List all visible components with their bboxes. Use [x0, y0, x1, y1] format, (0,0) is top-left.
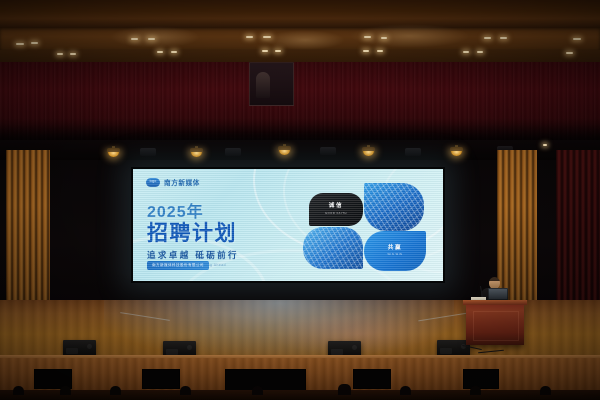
- ceiling-downlight: [16, 43, 24, 45]
- ceiling-downlight: [463, 51, 469, 53]
- led-screen-content: logo 南方新媒体 2025年 招聘计划 追求卓越 砥砺前行 Pursuing…: [133, 169, 443, 281]
- ceiling-downlight: [31, 42, 38, 44]
- ceiling-downlight: [484, 37, 491, 39]
- stage-light-icon: [140, 148, 156, 156]
- petal-glass-top-right: [364, 183, 424, 231]
- seat-back: [13, 386, 24, 395]
- ceiling-downlight: [262, 50, 268, 52]
- petal-value-integrity: 诚信 GOOD FAITH: [309, 193, 363, 226]
- ceiling-downlight: [57, 53, 63, 55]
- petal-value-winwin: 共赢 WIN WIN: [364, 231, 426, 271]
- ceiling-downlight: [377, 50, 383, 52]
- led-screen-frame: logo 南方新媒体 2025年 招聘计划 追求卓越 砥砺前行 Pursuing…: [131, 167, 445, 283]
- seat-back: [540, 386, 551, 395]
- ceiling-downlight: [157, 51, 163, 53]
- stage-light-icon: [320, 147, 336, 155]
- stage-light-icon: [105, 146, 122, 158]
- slide-main-title: 招聘计划: [147, 223, 239, 246]
- ceiling-downlight: [363, 50, 369, 52]
- ceiling-downlight: [477, 51, 483, 53]
- audience-seat-row: [0, 390, 600, 400]
- ceiling-downlight: [381, 37, 387, 39]
- slide-logo: logo 南方新媒体: [146, 177, 200, 187]
- ceiling-downlight: [263, 36, 271, 38]
- brand-mark-icon: logo: [146, 178, 160, 187]
- stage-light-icon: [225, 148, 241, 156]
- ceiling-downlight: [275, 50, 281, 52]
- slide-headline: 2025年 招聘计划 追求卓越 砥砺前行 Pursuing Excellence…: [147, 205, 239, 267]
- petal-label-en: WIN WIN: [387, 253, 402, 256]
- ceiling-downlight: [566, 52, 573, 54]
- ceiling-beam: [0, 28, 600, 50]
- petal-glass-bottom-left: [303, 227, 363, 269]
- ceiling-downlight: [500, 37, 507, 39]
- apron-vent-opening: [142, 369, 180, 389]
- brand-mark-text: logo: [150, 180, 157, 183]
- stage-light-icon: [188, 146, 205, 158]
- seat-back: [400, 386, 411, 395]
- petal-label-cn: 诚信: [329, 204, 343, 210]
- ceiling-downlight: [70, 53, 76, 55]
- slide-company-chip: 南方新媒体科技股份有限公司: [147, 261, 209, 270]
- seat-back: [252, 386, 263, 395]
- auditorium-stage-photo: logo 南方新媒体 2025年 招聘计划 追求卓越 砥砺前行 Pursuing…: [0, 0, 600, 400]
- apron-vent-opening: [353, 369, 391, 389]
- brand-name: 南方新媒体: [164, 177, 200, 187]
- petal-label-cn: 共赢: [388, 246, 402, 252]
- ceiling-downlight: [364, 36, 371, 38]
- slide-subtitle-cn: 追求卓越 砥砺前行: [147, 249, 239, 261]
- ceiling-downlight: [148, 38, 155, 40]
- seat-back: [180, 386, 191, 395]
- seat-back: [110, 386, 121, 395]
- ceiling-downlight: [171, 51, 177, 53]
- laptop-screen: [489, 289, 507, 299]
- stage-light-icon: [543, 144, 547, 146]
- podium-top-surface: [463, 300, 527, 305]
- audience-head: [338, 384, 351, 395]
- stage-light-icon: [405, 148, 421, 156]
- projector-lens-icon: [256, 72, 270, 98]
- ceiling-downlight: [246, 36, 253, 38]
- apron-vent-opening: [463, 369, 499, 389]
- seat-back: [60, 386, 71, 395]
- ceiling: [0, 0, 600, 30]
- ceiling-downlight: [131, 38, 138, 40]
- slide-year: 2025年: [147, 205, 239, 221]
- stage-light-icon: [448, 145, 465, 157]
- stage-light-icon: [276, 144, 293, 156]
- petal-label-en: GOOD FAITH: [325, 212, 347, 215]
- stage-light-icon: [360, 145, 377, 157]
- ceiling-downlight: [573, 38, 581, 40]
- podium-front-panel: [473, 311, 519, 341]
- seat-back: [470, 386, 481, 395]
